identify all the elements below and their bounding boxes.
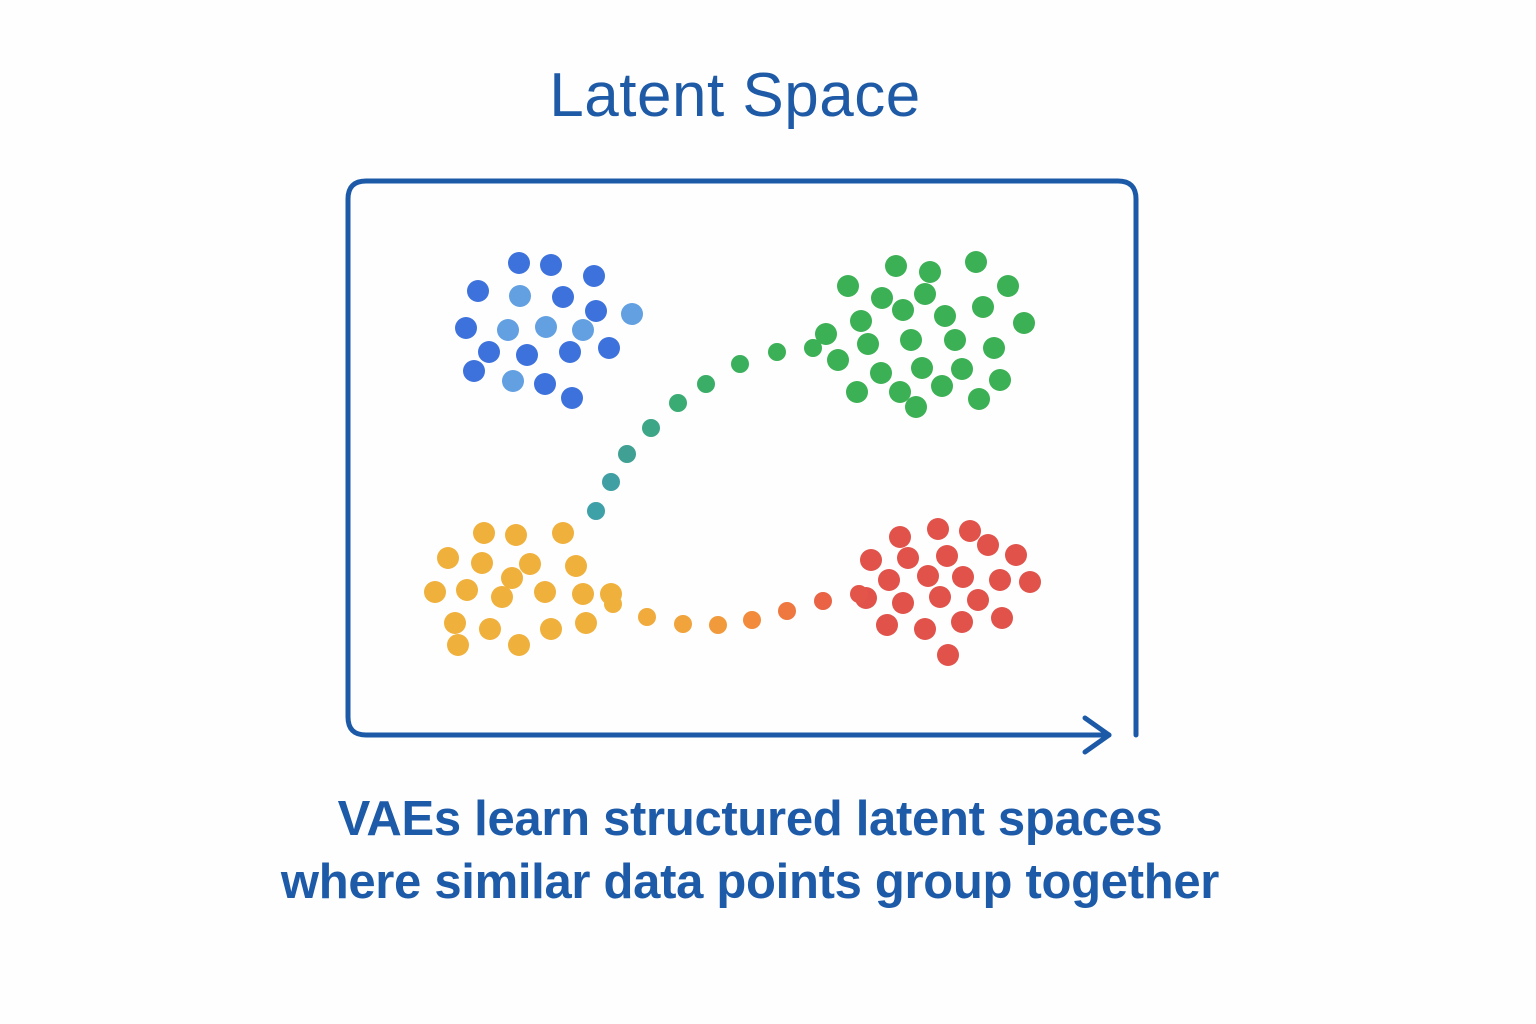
data-point xyxy=(583,265,605,287)
data-point xyxy=(424,581,446,603)
data-point xyxy=(983,337,1005,359)
data-point xyxy=(871,287,893,309)
data-point xyxy=(951,611,973,633)
data-point xyxy=(850,310,872,332)
data-point xyxy=(967,589,989,611)
data-point xyxy=(572,319,594,341)
data-point xyxy=(709,616,727,634)
data-point xyxy=(534,373,556,395)
data-point xyxy=(897,547,919,569)
data-point xyxy=(618,445,636,463)
data-point xyxy=(876,614,898,636)
data-point xyxy=(860,549,882,571)
data-point xyxy=(892,299,914,321)
data-point xyxy=(497,319,519,341)
data-point xyxy=(846,381,868,403)
data-point xyxy=(516,344,538,366)
data-point xyxy=(905,396,927,418)
data-point xyxy=(638,608,656,626)
data-point xyxy=(972,296,994,318)
data-point xyxy=(509,285,531,307)
data-point xyxy=(914,283,936,305)
data-point xyxy=(965,251,987,273)
data-point xyxy=(944,329,966,351)
data-point xyxy=(927,518,949,540)
data-point xyxy=(929,586,951,608)
data-point xyxy=(900,329,922,351)
data-point xyxy=(1013,312,1035,334)
data-point xyxy=(604,595,622,613)
data-point xyxy=(508,634,530,656)
data-point xyxy=(642,419,660,437)
data-point xyxy=(959,520,981,542)
data-point xyxy=(885,255,907,277)
data-point xyxy=(508,252,530,274)
data-point xyxy=(471,552,493,574)
cluster-upper-trail xyxy=(587,339,822,520)
cluster-blue-cluster xyxy=(455,252,643,409)
data-point xyxy=(917,565,939,587)
caption-line-1: VAEs learn structured latent spaces xyxy=(0,788,1500,851)
data-point xyxy=(857,333,879,355)
data-point xyxy=(447,634,469,656)
data-point xyxy=(473,522,495,544)
data-point xyxy=(952,566,974,588)
data-point xyxy=(479,618,501,640)
data-point xyxy=(540,618,562,640)
data-point xyxy=(505,524,527,546)
data-point xyxy=(587,502,605,520)
data-point xyxy=(456,579,478,601)
data-point xyxy=(936,545,958,567)
data-point xyxy=(535,316,557,338)
data-point xyxy=(1005,544,1027,566)
latent-space-frame xyxy=(348,181,1136,752)
data-point xyxy=(561,387,583,409)
data-point xyxy=(804,339,822,357)
data-point xyxy=(931,375,953,397)
scatter-dots xyxy=(424,251,1041,666)
data-point xyxy=(850,585,868,603)
data-point xyxy=(674,615,692,633)
data-point xyxy=(731,355,749,373)
data-point xyxy=(501,567,523,589)
data-point xyxy=(559,341,581,363)
data-point xyxy=(585,300,607,322)
data-point xyxy=(778,602,796,620)
data-point xyxy=(478,341,500,363)
data-point xyxy=(870,362,892,384)
data-point xyxy=(919,261,941,283)
data-point xyxy=(977,534,999,556)
data-point xyxy=(814,592,832,610)
data-point xyxy=(951,358,973,380)
data-point xyxy=(444,612,466,634)
figure-caption: VAEs learn structured latent spaces wher… xyxy=(0,788,1500,913)
data-point xyxy=(491,586,513,608)
data-point xyxy=(934,305,956,327)
data-point xyxy=(892,592,914,614)
data-point xyxy=(889,526,911,548)
data-point xyxy=(837,275,859,297)
data-point xyxy=(455,317,477,339)
data-point xyxy=(540,254,562,276)
data-point xyxy=(602,473,620,491)
data-point xyxy=(937,644,959,666)
caption-line-2: where similar data points group together xyxy=(0,851,1500,914)
cluster-lower-trail xyxy=(604,585,868,634)
cluster-red-cluster xyxy=(855,518,1041,666)
data-point xyxy=(768,343,786,361)
data-point xyxy=(889,381,911,403)
data-point xyxy=(743,611,761,629)
data-point xyxy=(989,569,1011,591)
data-point xyxy=(519,553,541,575)
data-point xyxy=(827,349,849,371)
data-point xyxy=(552,522,574,544)
cluster-green-cluster xyxy=(815,251,1035,418)
data-point xyxy=(914,618,936,640)
data-point xyxy=(697,375,715,393)
data-point xyxy=(669,394,687,412)
data-point xyxy=(598,337,620,359)
cluster-orange-cluster xyxy=(424,522,622,656)
data-point xyxy=(502,370,524,392)
data-point xyxy=(467,280,489,302)
data-point xyxy=(575,612,597,634)
data-point xyxy=(437,547,459,569)
data-point xyxy=(572,583,594,605)
data-point xyxy=(1019,571,1041,593)
data-point xyxy=(878,569,900,591)
data-point xyxy=(989,369,1011,391)
data-point xyxy=(463,360,485,382)
data-point xyxy=(991,607,1013,629)
data-point xyxy=(911,357,933,379)
latent-space-figure: Latent Space VAEs learn structured laten… xyxy=(0,0,1536,1024)
data-point xyxy=(565,555,587,577)
data-point xyxy=(997,275,1019,297)
data-point xyxy=(534,581,556,603)
data-point xyxy=(621,303,643,325)
data-point xyxy=(552,286,574,308)
data-point xyxy=(968,388,990,410)
